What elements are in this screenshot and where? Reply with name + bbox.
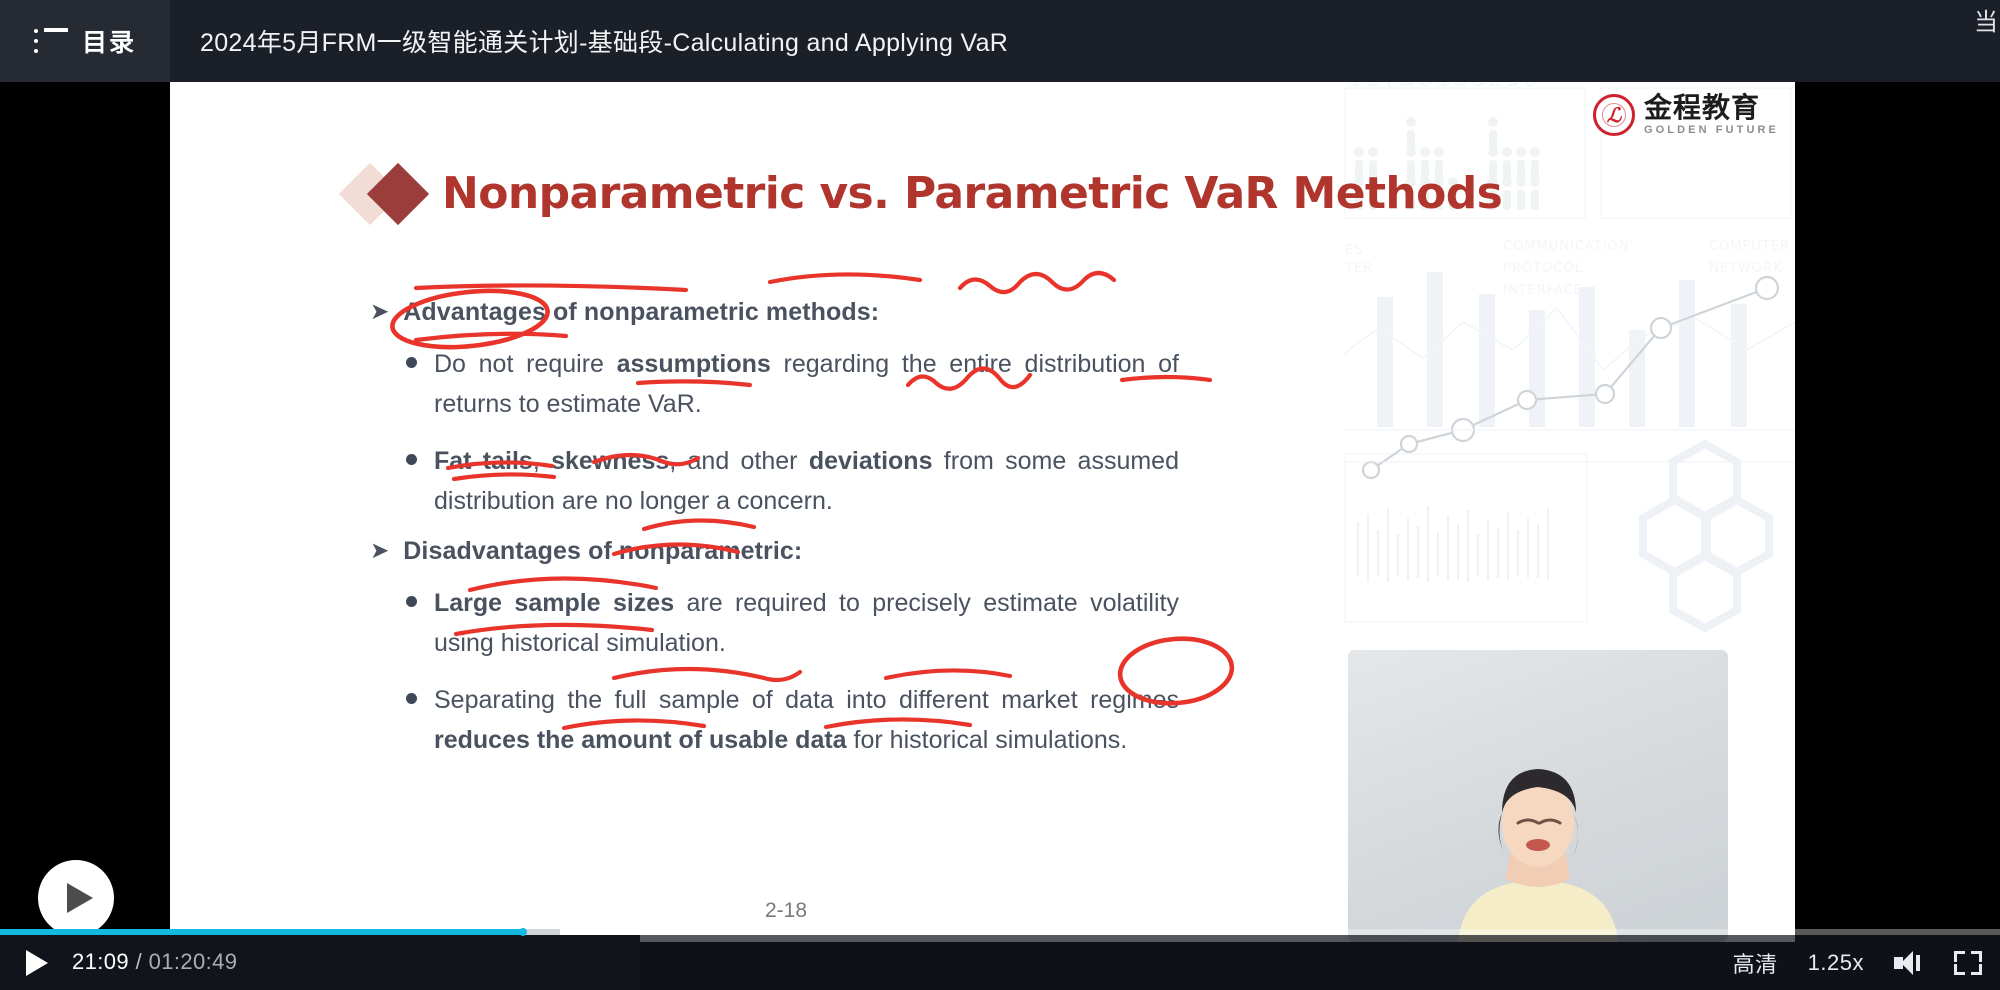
video-stage[interactable]: 11738158290 ES TER COMMUNICATION PROTOCO… <box>0 82 2000 990</box>
seek-bar[interactable] <box>0 929 2000 935</box>
svg-text:ES: ES <box>1345 243 1363 258</box>
arrow-bullet-icon: ➤ <box>370 298 389 326</box>
slide-page-number: 2-18 <box>765 899 807 923</box>
time-separator: / <box>136 949 143 974</box>
seek-handle[interactable] <box>519 928 527 936</box>
play-button[interactable] <box>26 950 48 976</box>
brand-logo: ℒ 金程教育 GOLDEN FUTURE <box>1593 94 1779 136</box>
list-item: Do not require assumptions regarding the… <box>406 344 1240 424</box>
svg-text:PROTOCOL: PROTOCOL <box>1503 261 1583 276</box>
dot-bullet-icon <box>406 596 417 607</box>
section-heading-text: Disadvantages of nonparametric: <box>403 537 802 566</box>
slide-body: ➤ Advantages of nonparametric methods: D… <box>370 294 1240 760</box>
slide-title: Nonparametric vs. Parametric VaR Methods <box>442 168 1502 219</box>
section-heading: ➤ Disadvantages of nonparametric: <box>370 537 1240 566</box>
brand-name-cn: 金程教育 <box>1644 94 1779 122</box>
right-controls: 高清 1.25x <box>1733 935 1982 990</box>
bullet-text: Fat tails, skewness, and other deviation… <box>434 441 1179 521</box>
svg-text:COMPUTER: COMPUTER <box>1709 239 1790 254</box>
course-title: 2024年5月FRM一级智能通关计划-基础段-Calculating and A… <box>200 23 1008 59</box>
instructor-video[interactable] <box>1348 650 1728 942</box>
play-icon <box>67 883 93 913</box>
svg-text:COMMUNICATION: COMMUNICATION <box>1503 239 1630 254</box>
list-item: Large sample sizes are required to preci… <box>406 583 1240 663</box>
top-bar: 目录 2024年5月FRM一级智能通关计划-基础段-Calculating an… <box>0 0 2000 82</box>
speed-button[interactable]: 1.25x <box>1808 950 1864 976</box>
list-item: Separating the full sample of data into … <box>406 680 1240 760</box>
svg-text:TER: TER <box>1344 261 1373 276</box>
toc-label: 目录 <box>82 23 136 59</box>
edge-partial-text: 当 <box>1974 2 1998 37</box>
dot-bullet-icon <box>406 357 417 368</box>
dot-bullet-icon <box>406 693 417 704</box>
total-time: 01:20:49 <box>149 949 238 974</box>
quality-button[interactable]: 高清 <box>1733 947 1778 979</box>
brand-name-en: GOLDEN FUTURE <box>1644 125 1779 136</box>
seal-logo-icon: ℒ <box>1593 94 1635 136</box>
player-controls: 21:09 / 01:20:49 高清 1.25x <box>0 935 2000 990</box>
video-player-page: 目录 2024年5月FRM一级智能通关计划-基础段-Calculating an… <box>0 0 2000 990</box>
toc-button[interactable]: 目录 <box>0 0 170 82</box>
current-time: 21:09 <box>72 949 129 974</box>
section-heading: ➤ Advantages of nonparametric methods: <box>370 298 1240 327</box>
svg-text:INTERFACE: INTERFACE <box>1503 283 1583 298</box>
bullet-text: Do not require assumptions regarding the… <box>434 344 1179 424</box>
instructor-figure <box>1418 757 1658 942</box>
bullet-text: Large sample sizes are required to preci… <box>434 583 1179 663</box>
list-icon <box>34 28 68 54</box>
svg-text:11738158290: 11738158290 <box>1347 82 1540 93</box>
time-display: 21:09 / 01:20:49 <box>72 949 237 975</box>
play-overlay-button[interactable] <box>38 860 114 936</box>
slide: 11738158290 ES TER COMMUNICATION PROTOCO… <box>170 82 1795 942</box>
section-heading-text: Advantages of nonparametric methods: <box>403 298 879 327</box>
progress-range <box>0 929 523 935</box>
arrow-bullet-icon: ➤ <box>370 537 389 565</box>
slide-watermark-graphics: 11738158290 ES TER COMMUNICATION PROTOCO… <box>1343 82 1795 638</box>
volume-icon[interactable] <box>1894 950 1924 976</box>
dot-bullet-icon <box>406 454 417 465</box>
list-item: Fat tails, skewness, and other deviation… <box>406 441 1240 521</box>
bullet-text: Separating the full sample of data into … <box>434 680 1179 760</box>
slide-title-row: Nonparametric vs. Parametric VaR Methods <box>348 168 1502 219</box>
fullscreen-icon[interactable] <box>1954 950 1982 976</box>
svg-text:NETWORK: NETWORK <box>1709 261 1783 276</box>
